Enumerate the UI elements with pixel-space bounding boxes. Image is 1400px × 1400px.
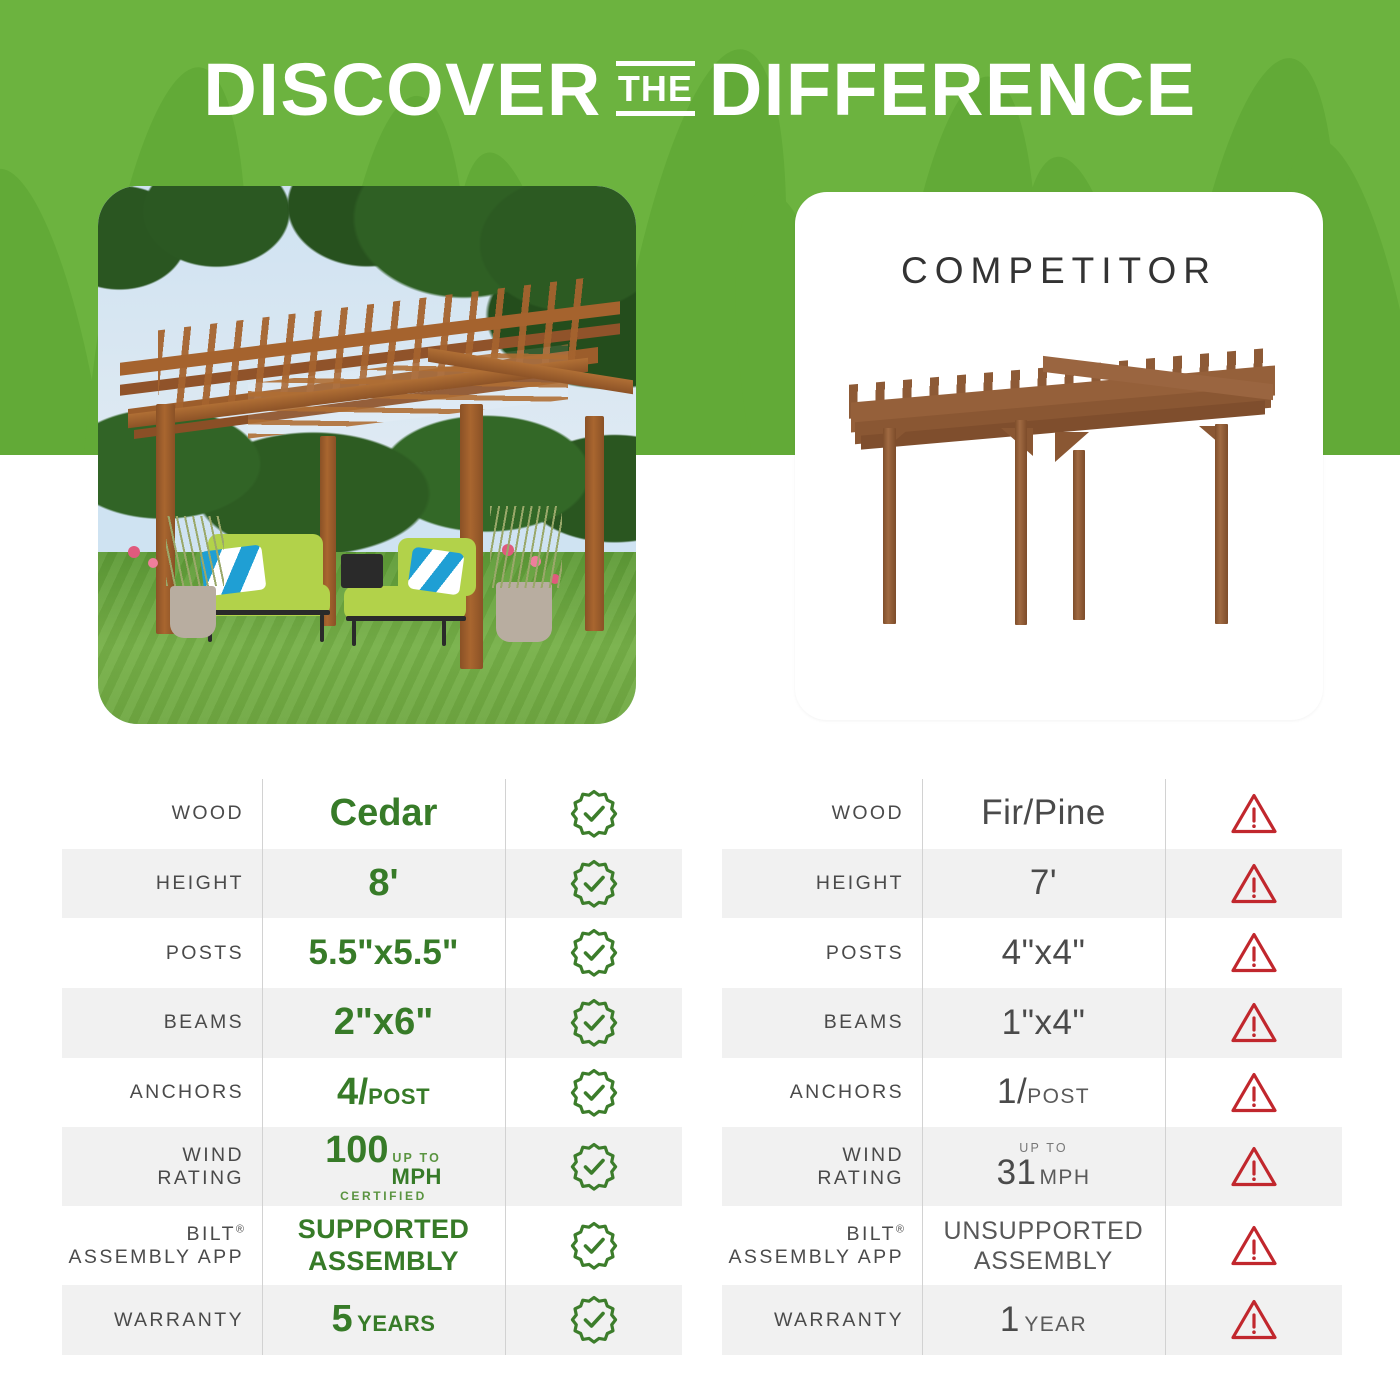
check-badge-icon [568, 1141, 620, 1193]
row-label-line2: RATING [157, 1167, 244, 1189]
status-cell [1165, 1297, 1342, 1343]
value-number: 5 [332, 1298, 353, 1340]
row-label: HEIGHT [62, 872, 262, 895]
status-cell [505, 1141, 682, 1193]
comparison-infographic: DISCOVERTHEDIFFERENCE [0, 0, 1400, 1400]
table-row: WOOD Fir/Pine [722, 779, 1342, 849]
value-number: 4 [337, 1071, 358, 1113]
value-line1: UNSUPPORTED [943, 1217, 1143, 1245]
row-label: WIND RATING [62, 1144, 262, 1191]
status-cell [1165, 930, 1342, 976]
row-label-line2: ASSEMBLY APP [69, 1246, 245, 1268]
page-title: DISCOVERTHEDIFFERENCE [0, 48, 1400, 127]
row-label-line1: WIND [842, 1144, 904, 1166]
competitor-post-1 [883, 428, 896, 624]
table-row: POSTS 5.5"x5.5" [62, 918, 682, 988]
side-table [341, 554, 383, 588]
competitor-title: COMPETITOR [795, 250, 1323, 292]
row-label: POSTS [722, 942, 922, 965]
table-row: POSTS 4"x4" [722, 918, 1342, 988]
row-value: 4/POST [262, 1073, 505, 1113]
row-label-line2: RATING [817, 1167, 904, 1189]
table-row: ANCHORS 4/POST [62, 1058, 682, 1128]
row-label: WOOD [62, 802, 262, 825]
table-row: BEAMS 2"x6" [62, 988, 682, 1058]
row-label: HEIGHT [722, 872, 922, 895]
value-number: 31 [997, 1155, 1037, 1192]
table-row: WOOD Cedar [62, 779, 682, 849]
status-cell [1165, 1070, 1342, 1116]
warning-triangle-icon [1229, 1070, 1279, 1116]
table-row: WIND RATING UP TO 31 MPH [722, 1127, 1342, 1206]
value-number: 1 [997, 1072, 1017, 1111]
value-text: Cedar [330, 792, 438, 834]
check-badge-icon [568, 788, 620, 840]
value-number: 1 [1000, 1300, 1020, 1339]
value-slash: / [358, 1071, 368, 1112]
value-text: 1"x4" [1002, 1003, 1086, 1042]
competitor-post-3 [1073, 450, 1085, 620]
row-value: 2"x6" [262, 1003, 505, 1043]
registered-mark: ® [896, 1223, 904, 1235]
row-label: ANCHORS [722, 1081, 922, 1104]
spec-table-competitor: WOOD Fir/Pine HEIGHT 7' [722, 779, 1342, 1355]
rule-bottom [616, 111, 695, 116]
value-unit: MPH [1040, 1167, 1091, 1189]
value-slash: / [1017, 1072, 1027, 1111]
row-value: 1"x4" [922, 1005, 1165, 1042]
value-text: Fir/Pine [981, 793, 1106, 832]
check-badge-icon [568, 997, 620, 1049]
warning-triangle-icon [1229, 1223, 1279, 1269]
check-badge-icon [568, 1067, 620, 1119]
value-line1: SUPPORTED [298, 1214, 470, 1244]
value-unit: MPH [392, 1164, 442, 1189]
row-value: SUPPORTED ASSEMBLY [262, 1214, 505, 1278]
status-cell [505, 788, 682, 840]
product-photo [98, 186, 636, 724]
row-value: 1 YEAR [922, 1302, 1165, 1339]
row-value: 4"x4" [922, 935, 1165, 972]
value-footnote: CERTIFIED [340, 1190, 427, 1203]
title-word-discover: DISCOVER [203, 53, 602, 127]
row-value: 100 UP TO MPH CERTIFIED [262, 1131, 505, 1203]
row-label-line1: BILT [187, 1223, 236, 1245]
table-row: BILT® ASSEMBLY APP UNSUPPORTED ASSEMBLY [722, 1206, 1342, 1285]
title-word-the-group: THE [616, 61, 695, 116]
value-unit: YEAR [1024, 1313, 1087, 1336]
table-row: HEIGHT 8' [62, 849, 682, 919]
table-row: BILT® ASSEMBLY APP SUPPORTED ASSEMBLY [62, 1206, 682, 1285]
value-unit: POST [1027, 1085, 1090, 1108]
check-badge-icon [568, 927, 620, 979]
row-value: UNSUPPORTED ASSEMBLY [922, 1216, 1165, 1276]
table-row: BEAMS 1"x4" [722, 988, 1342, 1058]
competitor-card: COMPETITOR [795, 192, 1323, 720]
row-label-line2: ASSEMBLY APP [729, 1246, 905, 1268]
row-label: BEAMS [62, 1011, 262, 1034]
check-badge-icon [568, 858, 620, 910]
row-label: WIND RATING [722, 1144, 922, 1191]
title-word-difference: DIFFERENCE [709, 53, 1197, 127]
table-row: ANCHORS 1/POST [722, 1058, 1342, 1128]
row-value: UP TO 31 MPH [922, 1142, 1165, 1192]
table-row: WIND RATING 100 UP TO MPH CERTIFIED [62, 1127, 682, 1206]
warning-triangle-icon [1229, 1144, 1279, 1190]
warning-triangle-icon [1229, 1000, 1279, 1046]
status-cell [1165, 791, 1342, 837]
check-badge-icon [568, 1294, 620, 1346]
status-cell [1165, 1000, 1342, 1046]
planter-right [496, 582, 552, 642]
row-value: 5.5"x5.5" [262, 935, 505, 972]
value-number: 100 [325, 1131, 388, 1171]
value-text: 8' [368, 862, 398, 904]
value-unit: YEARS [357, 1311, 435, 1336]
status-cell [1165, 861, 1342, 907]
product-photo-card [98, 186, 636, 724]
table-row: WARRANTY 5 YEARS [62, 1285, 682, 1355]
row-value: 1/POST [922, 1074, 1165, 1111]
row-value: Fir/Pine [922, 795, 1165, 832]
status-cell [505, 858, 682, 910]
row-value: 7' [922, 865, 1165, 902]
row-label: WARRANTY [722, 1309, 922, 1332]
row-label: POSTS [62, 942, 262, 965]
row-label: WOOD [722, 802, 922, 825]
status-cell [505, 997, 682, 1049]
warning-triangle-icon [1229, 861, 1279, 907]
table-row: HEIGHT 7' [722, 849, 1342, 919]
competitor-pergola-illustration [843, 340, 1283, 640]
value-line2: ASSEMBLY [974, 1247, 1113, 1275]
row-value: Cedar [262, 794, 505, 834]
registered-mark: ® [236, 1223, 244, 1235]
status-cell [505, 1067, 682, 1119]
warning-triangle-icon [1229, 1297, 1279, 1343]
table-row: WARRANTY 1 YEAR [722, 1285, 1342, 1355]
spec-table-ours: WOOD Cedar HEIGHT 8' [62, 779, 682, 1355]
row-label: ANCHORS [62, 1081, 262, 1104]
post-mid-right [460, 404, 483, 669]
planter-left [170, 586, 216, 638]
row-value: 5 YEARS [262, 1300, 505, 1340]
value-text: 5.5"x5.5" [309, 933, 459, 972]
status-cell [505, 1294, 682, 1346]
row-label-line1: WIND [182, 1144, 244, 1166]
row-label: BILT® ASSEMBLY APP [62, 1223, 262, 1270]
warning-triangle-icon [1229, 930, 1279, 976]
value-text: 2"x6" [334, 1001, 433, 1043]
status-cell [1165, 1144, 1342, 1190]
row-label: WARRANTY [62, 1309, 262, 1332]
competitor-post-4 [1215, 424, 1228, 624]
status-cell [1165, 1223, 1342, 1269]
row-label: BILT® ASSEMBLY APP [722, 1223, 922, 1270]
check-badge-icon [568, 1220, 620, 1272]
value-unit: POST [368, 1084, 430, 1109]
post-right [585, 416, 604, 631]
title-word-the: THE [616, 66, 695, 111]
row-value: 8' [262, 864, 505, 904]
row-label-line1: BILT [847, 1223, 896, 1245]
competitor-post-2 [1015, 420, 1027, 625]
value-text: 7' [1030, 863, 1057, 902]
value-line2: ASSEMBLY [308, 1246, 459, 1276]
status-cell [505, 1220, 682, 1272]
status-cell [505, 927, 682, 979]
row-label: BEAMS [722, 1011, 922, 1034]
value-text: 4"x4" [1002, 933, 1086, 972]
warning-triangle-icon [1229, 791, 1279, 837]
